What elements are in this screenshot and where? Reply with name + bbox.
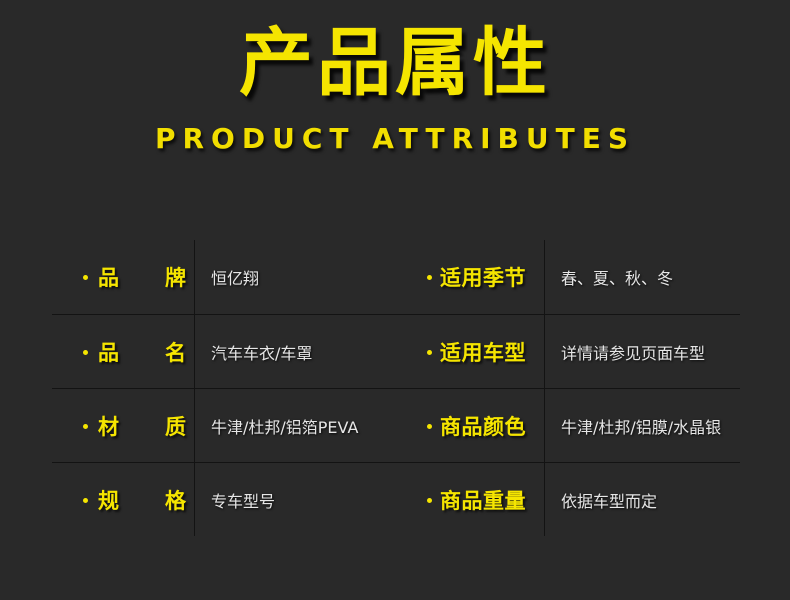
- bullet-icon: [427, 350, 432, 355]
- attribute-value-season: 春、夏、秋、冬: [544, 240, 740, 314]
- page-title: 产品属性: [0, 26, 790, 100]
- attribute-value-product-name: 汽车车衣/车罩: [194, 315, 396, 388]
- attribute-label-season: 适用季节: [396, 240, 544, 314]
- bullet-icon: [427, 275, 432, 280]
- product-attributes-table: 品牌 恒亿翔 适用季节 春、夏、秋、冬 品名 汽车车衣/车罩 适用车型 详情请参…: [52, 240, 740, 536]
- attribute-value-vehicle-model: 详情请参见页面车型: [544, 315, 740, 388]
- attribute-value-material: 牛津/杜邦/铝箔PEVA: [194, 389, 396, 462]
- table-row: 规格 专车型号 商品重量 依据车型而定: [52, 462, 740, 536]
- attribute-value-color: 牛津/杜邦/铝膜/水晶银: [544, 389, 740, 462]
- bullet-icon: [83, 424, 88, 429]
- page-subtitle: PRODUCT ATTRIBUTES: [0, 122, 790, 155]
- attribute-label-weight: 商品重量: [396, 463, 544, 536]
- attribute-label-brand: 品牌: [52, 240, 194, 314]
- attribute-label-text: 品牌: [98, 262, 186, 292]
- attribute-label-text: 适用车型: [440, 337, 526, 367]
- attribute-label-product-name: 品名: [52, 315, 194, 388]
- table-row: 品牌 恒亿翔 适用季节 春、夏、秋、冬: [52, 240, 740, 314]
- attribute-label-color: 商品颜色: [396, 389, 544, 462]
- bullet-icon: [83, 275, 88, 280]
- attribute-label-text: 商品重量: [440, 485, 526, 515]
- attribute-label-text: 规格: [98, 485, 186, 515]
- attribute-label-text: 品名: [98, 337, 186, 367]
- table-row: 品名 汽车车衣/车罩 适用车型 详情请参见页面车型: [52, 314, 740, 388]
- attribute-value-specification: 专车型号: [194, 463, 396, 536]
- attribute-value-weight: 依据车型而定: [544, 463, 740, 536]
- attribute-label-material: 材质: [52, 389, 194, 462]
- attribute-value-brand: 恒亿翔: [194, 240, 396, 314]
- attribute-label-specification: 规格: [52, 463, 194, 536]
- bullet-icon: [427, 498, 432, 503]
- attribute-label-vehicle-model: 适用车型: [396, 315, 544, 388]
- bullet-icon: [83, 498, 88, 503]
- attribute-label-text: 商品颜色: [440, 411, 526, 441]
- attribute-label-text: 材质: [98, 411, 186, 441]
- attribute-label-text: 适用季节: [440, 262, 526, 292]
- page-header: 产品属性 PRODUCT ATTRIBUTES: [0, 0, 790, 155]
- table-row: 材质 牛津/杜邦/铝箔PEVA 商品颜色 牛津/杜邦/铝膜/水晶银: [52, 388, 740, 462]
- bullet-icon: [427, 424, 432, 429]
- bullet-icon: [83, 350, 88, 355]
